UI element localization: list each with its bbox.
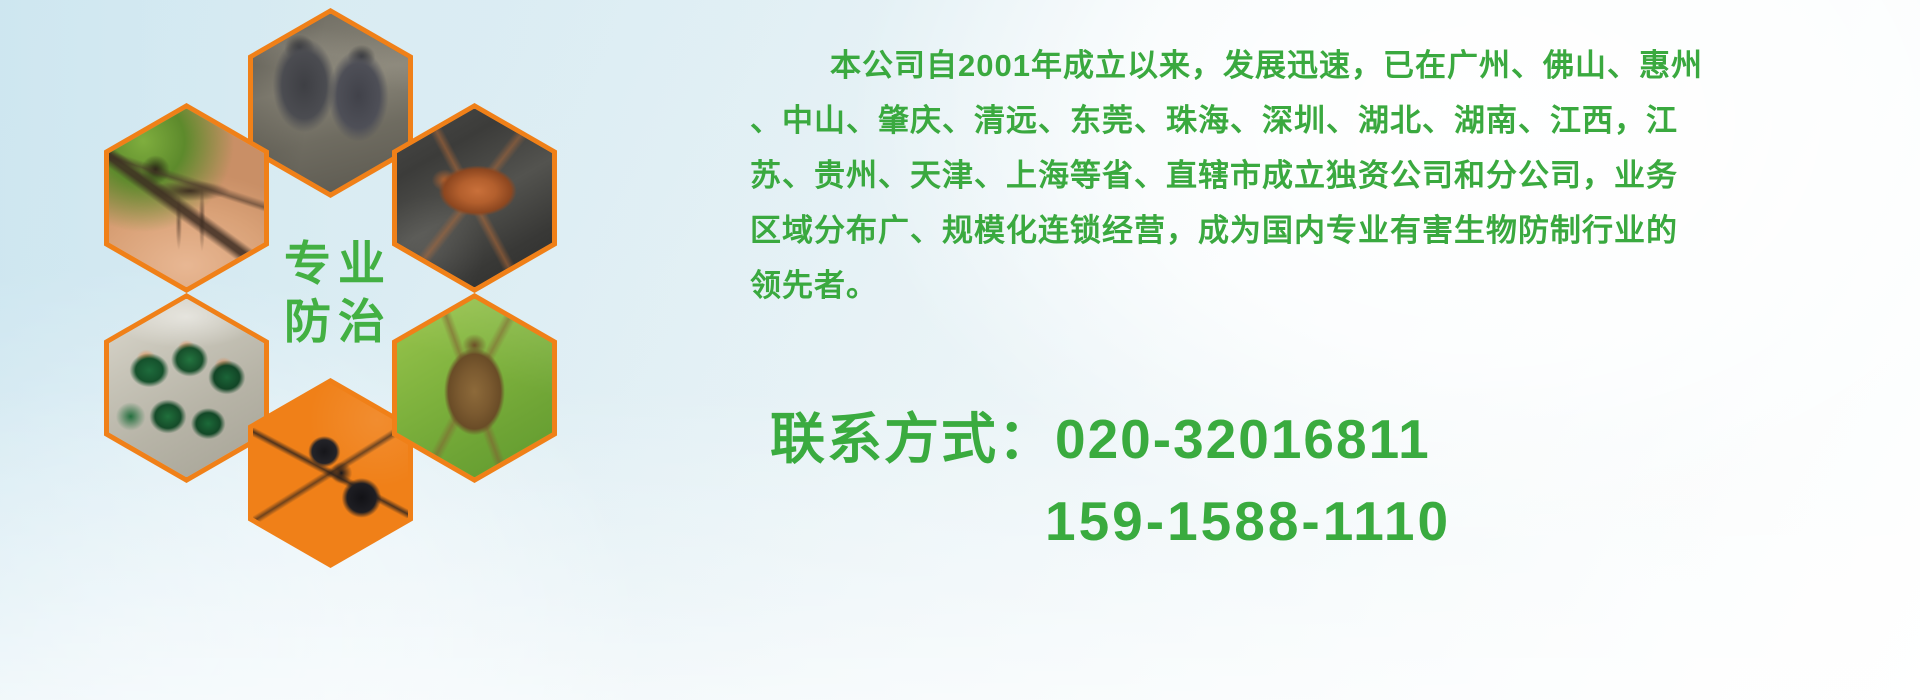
rodents-photo (253, 14, 408, 193)
slogan-line-1: 专业 (277, 240, 392, 288)
collage-center-slogan: 专业 防治 (252, 198, 417, 388)
hex-photo-frame (253, 14, 408, 193)
contact-phone-mobile[interactable]: 159-1588-1110 (770, 480, 1770, 562)
hex-cell-rats (248, 8, 413, 198)
description-line-5: 领先者。 (750, 258, 1860, 313)
promo-banner: 专业 防治 本公司自2001年成立以来，发展迅速，已在广州、佛山、惠州 、中山、… (0, 0, 1920, 700)
hexagon-photo-collage: 专业 防治 (82, 8, 592, 568)
cockroach-photo (397, 109, 552, 288)
hex-photo-frame (109, 109, 264, 288)
hex-cell-flies (104, 293, 269, 483)
shield-bug-on-leaf-photo (397, 299, 552, 478)
contact-info: 联系方式：020-32016811 159-1588-1110 (770, 398, 1770, 562)
blow-flies-photo (109, 299, 264, 478)
hex-photo-frame (397, 299, 552, 478)
description-line-4: 区域分布广、规模化连锁经营，成为国内专业有害生物防制行业的 (750, 203, 1860, 258)
description-line-3: 苏、贵州、天津、上海等省、直辖市成立独资公司和分公司，业务 (750, 148, 1860, 203)
description-line-1: 本公司自2001年成立以来，发展迅速，已在广州、佛山、惠州 (750, 38, 1860, 93)
hex-cell-ant (248, 378, 413, 568)
hex-photo-frame (253, 384, 408, 563)
hex-cell-mosquito (104, 103, 269, 293)
hex-photo-frame (397, 109, 552, 288)
mosquito-on-skin-photo (109, 109, 264, 288)
slogan-line-2: 防治 (277, 298, 392, 346)
hex-photo-frame (109, 299, 264, 478)
contact-phone-landline[interactable]: 联系方式：020-32016811 (770, 398, 1770, 480)
ant-photo (253, 384, 408, 563)
company-description: 本公司自2001年成立以来，发展迅速，已在广州、佛山、惠州 、中山、肇庆、清远、… (750, 38, 1860, 313)
description-line-2: 、中山、肇庆、清远、东莞、珠海、深圳、湖北、湖南、江西，江 (750, 93, 1860, 148)
